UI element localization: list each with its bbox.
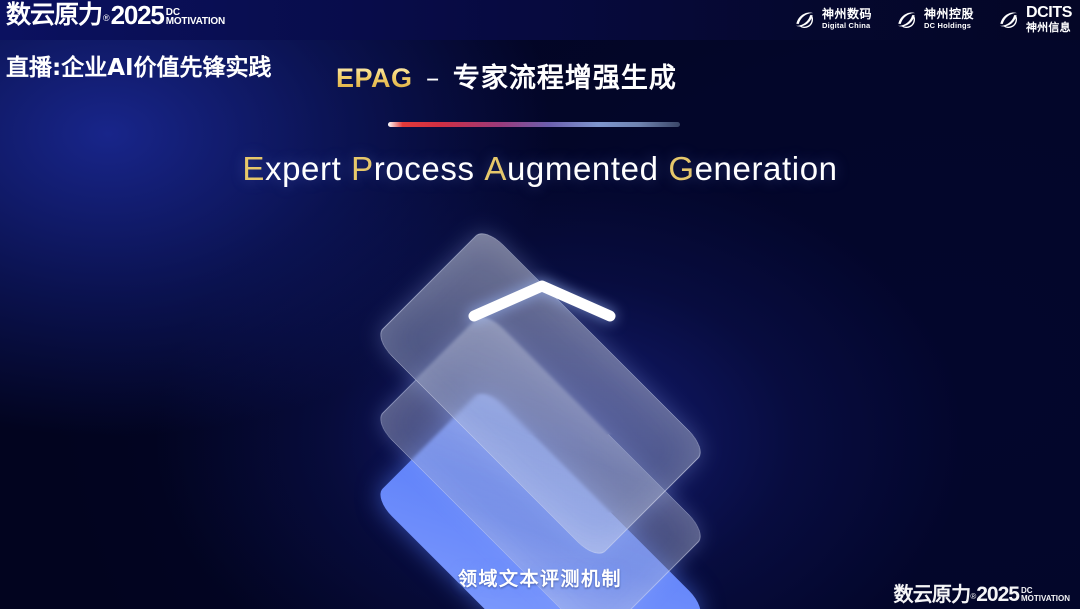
brand-logo-tagline: DC MOTIVATION bbox=[166, 8, 225, 28]
english-expansion-title: Expert Process Augmented Generation bbox=[0, 150, 1080, 188]
cap-letter-p: P bbox=[351, 150, 374, 187]
brand-tagline-line2: MOTIVATION bbox=[166, 17, 225, 26]
brand-logo-cn: 数云原力 bbox=[6, 2, 102, 28]
cap-letter-a: A bbox=[484, 150, 507, 187]
layer-stack-diagram: 领域文本评测机制 Dynamic MOE 长文本记忆 三类语义建模模块 bbox=[310, 228, 770, 578]
chevron-up-icon bbox=[466, 278, 618, 324]
watermark-cn: 数云原力 bbox=[894, 584, 971, 605]
swirl-icon bbox=[792, 7, 817, 32]
word-augmented: Augmented bbox=[484, 150, 658, 187]
gradient-divider bbox=[388, 122, 680, 127]
partner-name-cn: 神州控股 bbox=[924, 8, 974, 20]
watermark-tagline-line2: MOTIVATION bbox=[1021, 595, 1070, 603]
partner-logo-text: 神州控股 DC Holdings bbox=[924, 8, 974, 30]
rest-expert: xpert bbox=[265, 150, 341, 187]
brand-registered-mark: ® bbox=[103, 8, 110, 28]
partner-logo-dc-holdings: 神州控股 DC Holdings bbox=[894, 7, 974, 32]
partner-name-en: 神州信息 bbox=[1026, 22, 1072, 33]
word-generation: Generation bbox=[668, 150, 837, 187]
cap-letter-g: G bbox=[668, 150, 694, 187]
partner-name-cn: 神州数码 bbox=[822, 8, 872, 20]
word-process: Process bbox=[351, 150, 474, 187]
brand-logo: 数云原力 ® 2025 DC MOTIVATION bbox=[6, 2, 225, 28]
watermark-tagline: DC MOTIVATION bbox=[1021, 587, 1070, 605]
headline-acronym: EPAG bbox=[336, 63, 413, 93]
partner-logo-group: 神州数码 Digital China 神州控股 DC Holdings bbox=[792, 5, 1072, 33]
swirl-icon bbox=[996, 7, 1021, 32]
partner-logo-digital-china: 神州数码 Digital China bbox=[792, 7, 872, 32]
brand-logo-year: 2025 bbox=[111, 2, 164, 28]
stack-layer-top-plate bbox=[373, 226, 707, 560]
partner-logo-text: 神州数码 Digital China bbox=[822, 8, 872, 30]
partner-name-en: DC Holdings bbox=[924, 22, 974, 30]
swirl-icon bbox=[894, 7, 919, 32]
headline-chinese: 专家流程增强生成 bbox=[453, 63, 677, 94]
rest-augmented: ugmented bbox=[507, 150, 659, 187]
headline-dash: – bbox=[426, 63, 440, 94]
slide-headline: EPAG – 专家流程增强生成 bbox=[336, 56, 677, 95]
cap-letter-e: E bbox=[242, 150, 265, 187]
rest-generation: eneration bbox=[695, 150, 838, 187]
watermark-year: 2025 bbox=[976, 584, 1019, 605]
partner-logo-dcits: DCITS 神州信息 bbox=[996, 5, 1072, 33]
partner-logo-text: DCITS 神州信息 bbox=[1026, 5, 1072, 33]
partner-name-en: Digital China bbox=[822, 22, 872, 30]
partner-name-cn: DCITS bbox=[1026, 5, 1072, 21]
live-subtitle: 直播:企业AI价值先锋实践 bbox=[6, 48, 272, 82]
slide-canvas: 数云原力 ® 2025 DC MOTIVATION 直播:企业AI价值先锋实践 … bbox=[0, 0, 1080, 609]
rest-process: rocess bbox=[374, 150, 475, 187]
footer-watermark-logo: 数云原力 ® 2025 DC MOTIVATION bbox=[894, 584, 1070, 605]
word-expert: Expert bbox=[242, 150, 341, 187]
